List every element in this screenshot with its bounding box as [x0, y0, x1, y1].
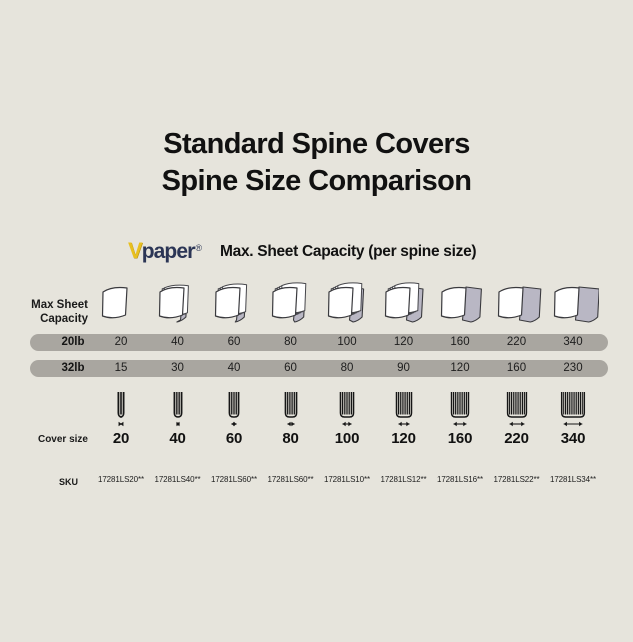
- sku-value: 17281LS16**: [430, 475, 490, 484]
- vpaper-logo: Vpaper®: [128, 240, 202, 263]
- sku-value: 17281LS12**: [374, 475, 434, 484]
- spine-size-icon: [545, 390, 601, 432]
- cover-size-value: 80: [263, 430, 319, 447]
- paper-stack-icon-row: [0, 278, 633, 330]
- cover-size-value: 120: [376, 430, 432, 447]
- capacity-value-20lb: 220: [489, 334, 545, 351]
- sku-value: 17281LS40**: [148, 475, 208, 484]
- capacity-value-32lb: 40: [206, 360, 262, 377]
- spine-size-icon: [150, 390, 206, 432]
- capacity-value-32lb: 30: [150, 360, 206, 377]
- capacity-value-32lb: 15: [93, 360, 149, 377]
- capacity-heading: Max. Sheet Capacity (per spine size): [220, 243, 476, 261]
- paper-stack-icon: [376, 278, 432, 330]
- sku-value: 17281LS22**: [487, 475, 547, 484]
- capacity-value-32lb: 160: [489, 360, 545, 377]
- paper-stack-icon: [93, 278, 149, 330]
- title-line-1: Standard Spine Covers: [0, 126, 633, 163]
- cover-size-value: 160: [432, 430, 488, 447]
- sku-value: 17281LS60**: [261, 475, 321, 484]
- paper-stack-icon: [319, 278, 375, 330]
- cover-size-value: 340: [545, 430, 601, 447]
- sku-value: 17281LS20**: [91, 475, 151, 484]
- paper-stack-icon: [489, 278, 545, 330]
- capacity-value-32lb: 90: [376, 360, 432, 377]
- cover-size-value: 40: [150, 430, 206, 447]
- spine-size-icon: [319, 390, 375, 432]
- capacity-value-20lb: 100: [319, 334, 375, 351]
- cover-size-value: 220: [489, 430, 545, 447]
- spine-size-icon: [432, 390, 488, 432]
- page-title: Standard Spine Covers Spine Size Compari…: [0, 126, 633, 200]
- capacity-value-20lb: 60: [206, 334, 262, 351]
- cover-size-value: 60: [206, 430, 262, 447]
- capacity-value-32lb: 60: [263, 360, 319, 377]
- paper-stack-icon: [545, 278, 601, 330]
- spine-size-icon: [206, 390, 262, 432]
- capacity-value-20lb: 340: [545, 334, 601, 351]
- capacity-value-20lb: 160: [432, 334, 488, 351]
- capacity-value-32lb: 230: [545, 360, 601, 377]
- spine-icon-row: [0, 390, 633, 432]
- cover-size-value: 100: [319, 430, 375, 447]
- spine-size-icon: [263, 390, 319, 432]
- spine-size-icon: [376, 390, 432, 432]
- capacity-value-20lb: 120: [376, 334, 432, 351]
- spine-size-icon: [93, 390, 149, 432]
- table-row-32lb: 32lb 153040608090120160230: [30, 360, 608, 377]
- title-line-2: Spine Size Comparison: [0, 163, 633, 200]
- capacity-value-20lb: 80: [263, 334, 319, 351]
- paper-stack-icon: [432, 278, 488, 330]
- capacity-value-20lb: 20: [93, 334, 149, 351]
- registered-trademark-icon: ®: [195, 243, 202, 253]
- paper-stack-icon: [263, 278, 319, 330]
- paper-stack-icon: [150, 278, 206, 330]
- logo-v-mark: V: [128, 240, 142, 262]
- capacity-value-32lb: 80: [319, 360, 375, 377]
- spine-size-icon: [489, 390, 545, 432]
- sku-value: 17281LS10**: [317, 475, 377, 484]
- sku-value-row: 17281LS20**17281LS40**17281LS60**17281LS…: [0, 475, 633, 489]
- sku-value: 17281LS34**: [543, 475, 603, 484]
- table-row-20lb: 20lb 20406080100120160220340: [30, 334, 608, 351]
- sku-value: 17281LS60**: [204, 475, 264, 484]
- cover-size-value-row: 20406080100120160220340: [0, 430, 633, 450]
- brand-header-row: Vpaper® Max. Sheet Capacity (per spine s…: [128, 240, 476, 263]
- paper-stack-icon: [206, 278, 262, 330]
- logo-wordmark: paper: [142, 241, 195, 263]
- capacity-value-20lb: 40: [150, 334, 206, 351]
- capacity-value-32lb: 120: [432, 360, 488, 377]
- cover-size-value: 20: [93, 430, 149, 447]
